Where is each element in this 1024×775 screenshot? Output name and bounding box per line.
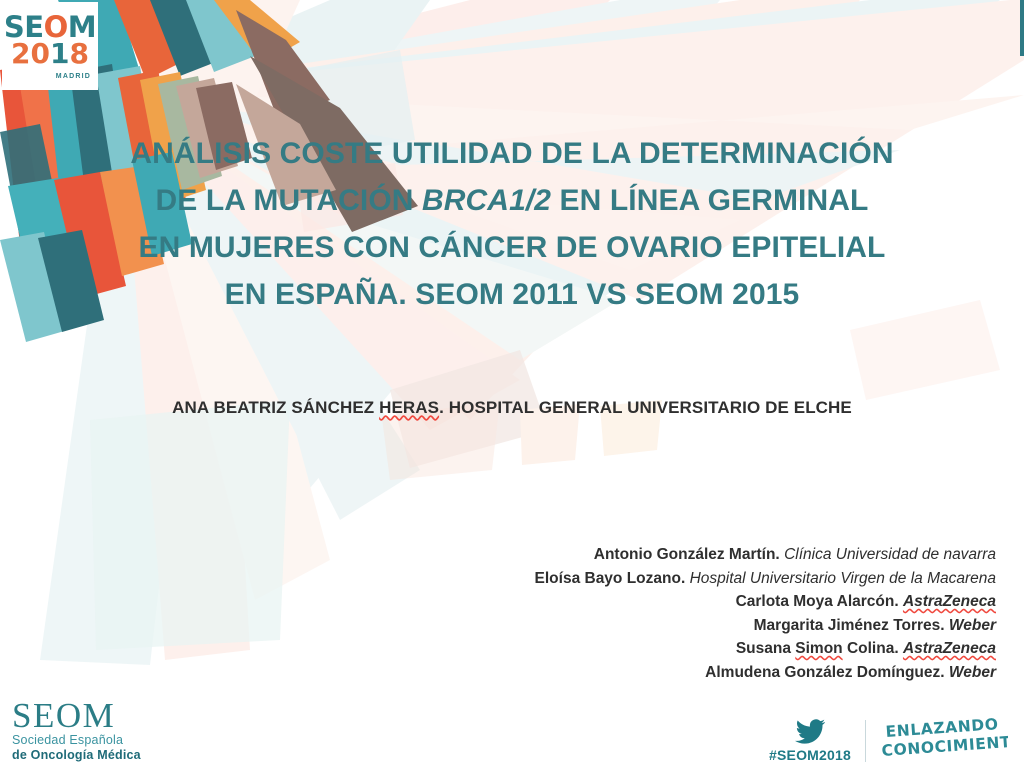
- presenter-surname: HERAS: [379, 398, 439, 417]
- event-logo-year-part2: 1: [50, 37, 69, 70]
- society-acronym: SEOM: [12, 699, 141, 733]
- presenter-name-prefix: ANA BEATRIZ SÁNCHEZ: [172, 398, 379, 417]
- title-line-2: DE LA MUTACIÓN BRCA1/2 EN LÍNEA GERMINAL: [60, 177, 964, 224]
- footer-divider: [865, 720, 866, 762]
- author-affiliation: AstraZeneca: [903, 593, 996, 610]
- title-line-2-suffix: EN LÍNEA GERMINAL: [551, 184, 868, 217]
- society-subtitle-line1: Sociedad Española: [12, 733, 141, 748]
- author-affiliation: Clínica Universidad de navarra: [784, 546, 996, 563]
- author-name: Almudena González Domínguez.: [705, 664, 944, 681]
- presenter-institution: . HOSPITAL GENERAL UNIVERSITARIO DE ELCH…: [439, 398, 852, 417]
- author-affiliation: Hospital Universitario Virgen de la Maca…: [690, 570, 996, 587]
- author-affiliation: Weber: [949, 664, 996, 681]
- author-list: Antonio González Martín. Clínica Univers…: [535, 543, 996, 684]
- slide-title: ANÁLISIS COSTE UTILIDAD DE LA DETERMINAC…: [60, 130, 964, 318]
- author-row: Carlota Moya Alarcón. AstraZeneca: [535, 590, 996, 614]
- presentation-slide: SEOM 2018 MADRID ANÁLISIS COSTE UTILIDAD…: [0, 0, 1024, 775]
- author-name: Antonio González Martín.: [594, 546, 780, 563]
- twitter-hashtag: #SEOM2018: [769, 747, 851, 763]
- event-logo-year-part1: 20: [11, 37, 50, 70]
- author-name-misspelled: Simon: [795, 640, 842, 657]
- twitter-group[interactable]: #SEOM2018: [769, 719, 851, 763]
- title-line-1: ANÁLISIS COSTE UTILIDAD DE LA DETERMINAC…: [60, 130, 964, 177]
- twitter-bird-icon: [795, 719, 825, 744]
- author-row: Susana Simon Colina. AstraZeneca: [535, 637, 996, 661]
- event-logo-year-part3: 8: [69, 37, 88, 70]
- event-logo-city: MADRID: [56, 73, 91, 80]
- presenter-affiliation-line: ANA BEATRIZ SÁNCHEZ HERAS. HOSPITAL GENE…: [60, 398, 964, 418]
- author-name: Carlota Moya Alarcón.: [736, 593, 899, 610]
- author-name: Margarita Jiménez Torres.: [754, 617, 945, 634]
- title-line-3: EN MUJERES CON CÁNCER DE OVARIO EPITELIA…: [60, 224, 964, 271]
- author-affiliation: AstraZeneca: [903, 640, 996, 657]
- author-name: Susana Simon Colina.: [736, 640, 899, 657]
- footer-social-block: #SEOM2018 ENLAZANDO CONOCIMIENTO: [769, 717, 1008, 765]
- author-row: Antonio González Martín. Clínica Univers…: [535, 543, 996, 567]
- author-row: Margarita Jiménez Torres. Weber: [535, 614, 996, 638]
- society-subtitle-line2: de Oncología Médica: [12, 748, 141, 763]
- seom-2018-event-logo: SEOM 2018 MADRID: [2, 2, 98, 90]
- author-row: Eloísa Bayo Lozano. Hospital Universitar…: [535, 567, 996, 591]
- title-line-4: EN ESPAÑA. SEOM 2011 VS SEOM 2015: [60, 271, 964, 318]
- accent-bar: [1020, 0, 1024, 56]
- congress-slogan: ENLAZANDO CONOCIMIENTO: [880, 717, 1008, 765]
- title-gene-name: BRCA1/2: [422, 184, 551, 217]
- seom-society-logo: SEOM Sociedad Española de Oncología Médi…: [12, 699, 141, 763]
- title-line-2-prefix: DE LA MUTACIÓN: [156, 184, 422, 217]
- author-name: Eloísa Bayo Lozano.: [535, 570, 686, 587]
- author-row: Almudena González Domínguez. Weber: [535, 661, 996, 685]
- event-logo-year: 2018: [11, 41, 89, 68]
- author-affiliation: Weber: [949, 617, 996, 634]
